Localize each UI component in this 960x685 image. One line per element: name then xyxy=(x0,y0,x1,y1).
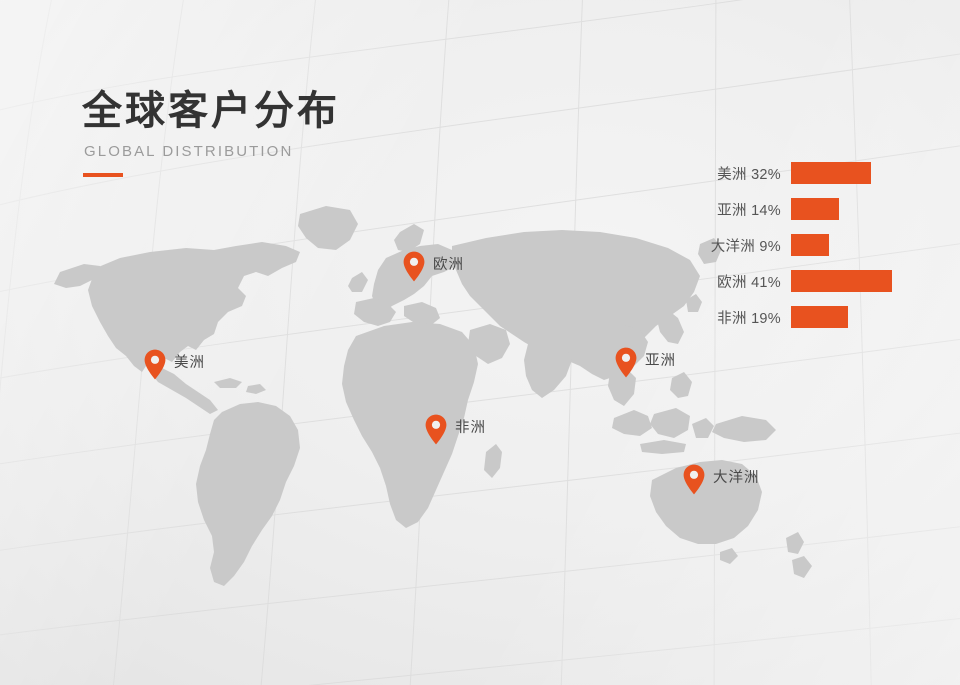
chart-bar-track xyxy=(791,306,932,328)
map-marker-label: 欧洲 xyxy=(433,253,464,274)
chart-bar-track xyxy=(791,234,932,256)
map-marker-europe[interactable]: 欧洲 xyxy=(403,251,464,282)
chart-rows: 美洲 32%亚洲 14%大洋洲 9%欧洲 41%非洲 19% xyxy=(700,155,932,335)
map-marker-africa[interactable]: 非洲 xyxy=(425,414,486,445)
distribution-bar-chart: 美洲 32%亚洲 14%大洋洲 9%欧洲 41%非洲 19% xyxy=(700,155,932,335)
chart-bar xyxy=(791,198,839,220)
map-marker-asia[interactable]: 亚洲 xyxy=(615,347,676,378)
chart-row-label: 非洲 19% xyxy=(700,307,791,328)
chart-bar xyxy=(791,270,892,292)
chart-bar xyxy=(791,162,871,184)
chart-row[interactable]: 欧洲 41% xyxy=(700,263,932,299)
chart-bar-track xyxy=(791,270,932,292)
location-pin-icon xyxy=(403,251,425,282)
chart-row-label: 欧洲 41% xyxy=(700,271,791,292)
chart-row-label: 亚洲 14% xyxy=(700,199,791,220)
chart-bar-track xyxy=(791,198,932,220)
chart-row-label: 美洲 32% xyxy=(700,163,791,184)
location-pin-icon xyxy=(425,414,447,445)
page-subtitle: GLOBAL DISTRIBUTION xyxy=(84,143,512,160)
chart-bar-track xyxy=(791,162,932,184)
location-pin-icon xyxy=(683,464,705,495)
infographic-slide: 全球客户分布 GLOBAL DISTRIBUTION 美洲欧洲亚洲非洲大洋洲 美… xyxy=(0,0,960,685)
chart-bar xyxy=(791,306,848,328)
map-marker-oceania[interactable]: 大洋洲 xyxy=(683,464,760,495)
location-pin-icon xyxy=(144,349,166,380)
chart-row[interactable]: 亚洲 14% xyxy=(700,191,932,227)
chart-row[interactable]: 大洋洲 9% xyxy=(700,227,932,263)
map-marker-label: 亚洲 xyxy=(645,349,676,370)
map-marker-label: 大洋洲 xyxy=(713,466,760,487)
accent-underline xyxy=(83,173,123,177)
location-pin-icon xyxy=(615,347,637,378)
page-title: 全球客户分布 xyxy=(82,88,512,134)
heading-block: 全球客户分布 GLOBAL DISTRIBUTION xyxy=(82,88,512,177)
chart-row-label: 大洋洲 9% xyxy=(700,235,791,256)
chart-row[interactable]: 美洲 32% xyxy=(700,155,932,191)
chart-bar xyxy=(791,234,829,256)
map-marker-label: 美洲 xyxy=(174,351,205,372)
map-marker-americas[interactable]: 美洲 xyxy=(144,349,205,380)
chart-row[interactable]: 非洲 19% xyxy=(700,299,932,335)
map-marker-label: 非洲 xyxy=(455,416,486,437)
